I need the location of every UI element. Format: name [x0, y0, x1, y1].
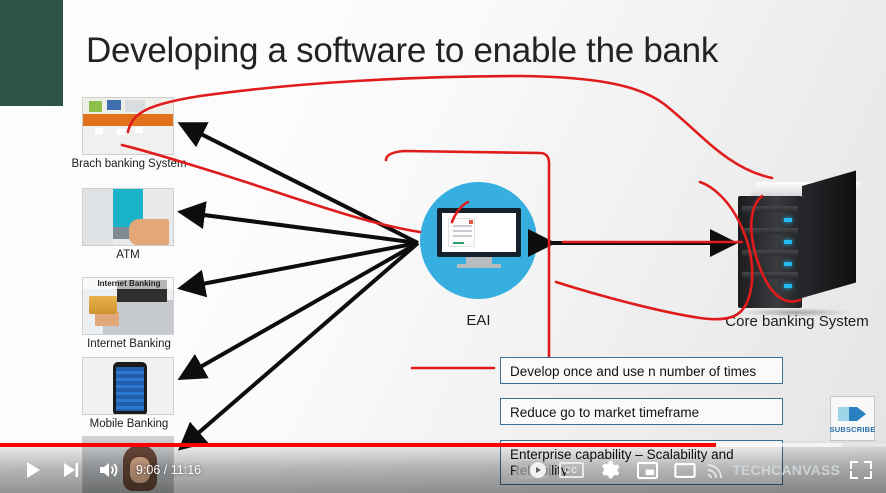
channel-atm: ATM	[82, 188, 174, 261]
channel-label: Brach banking System	[50, 158, 208, 170]
internet-banking-photo: Internet Banking	[82, 277, 174, 335]
theater-mode-button[interactable]	[666, 453, 704, 487]
benefit-box-1: Develop once and use n number of times	[500, 357, 783, 384]
atm-photo	[82, 188, 174, 246]
gear-icon	[599, 460, 620, 481]
volume-icon	[99, 461, 119, 479]
volume-button[interactable]	[90, 453, 128, 487]
mobile-banking-photo	[82, 357, 174, 415]
slide-accent-block	[0, 0, 63, 106]
settings-button[interactable]	[590, 453, 628, 487]
play-icon	[24, 461, 42, 479]
cast-icon	[707, 461, 727, 479]
subscribe-label: SUBSCRIBE	[830, 425, 876, 434]
subscribe-watermark[interactable]: SUBSCRIBE	[830, 396, 875, 441]
progress-played	[0, 443, 716, 447]
channel-label: ATM	[82, 249, 174, 261]
check-icon	[484, 221, 510, 243]
fullscreen-icon	[850, 461, 872, 479]
play-button[interactable]	[14, 453, 52, 487]
theater-icon	[674, 461, 696, 480]
autoplay-toggle[interactable]	[514, 453, 552, 487]
progress-bar[interactable]	[0, 443, 886, 447]
channel-branch-banking: Brach banking System	[82, 97, 174, 170]
eai-label: EAI	[420, 312, 537, 329]
channel-label: Mobile Banking	[50, 418, 208, 430]
video-player-controls: 9:06 / 11:16 CC	[0, 439, 886, 493]
next-video-button[interactable]	[52, 453, 90, 487]
next-icon	[62, 461, 80, 479]
fullscreen-button[interactable]	[842, 453, 880, 487]
branch-banking-photo	[82, 97, 174, 155]
subscribe-arrow-icon	[838, 404, 868, 424]
video-player-stage: Developing a software to enable the bank…	[0, 0, 886, 493]
presentation-slide: Developing a software to enable the bank…	[0, 0, 886, 493]
cc-label: CC	[559, 462, 584, 478]
core-banking-label: Core banking System	[700, 313, 886, 330]
time-display: 9:06 / 11:16	[136, 463, 201, 477]
monitor-check-icon	[437, 208, 521, 266]
miniplayer-icon	[637, 461, 658, 480]
channel-watermark-text: TECHCANVASS	[732, 462, 840, 478]
subtitles-button[interactable]: CC	[552, 453, 590, 487]
page-title: Developing a software to enable the bank	[86, 31, 786, 71]
miniplayer-button[interactable]	[628, 453, 666, 487]
benefit-box-2: Reduce go to market timeframe	[500, 398, 783, 425]
channel-mobile-banking: Mobile Banking	[82, 357, 174, 430]
internet-banking-photo-caption: Internet Banking	[83, 278, 174, 289]
cast-button[interactable]	[704, 453, 730, 487]
server-rack-icon	[738, 182, 856, 316]
channel-internet-banking: Internet Banking Internet Banking	[82, 277, 174, 350]
autoplay-play-icon	[534, 466, 542, 474]
channel-label: Internet Banking	[50, 338, 208, 350]
